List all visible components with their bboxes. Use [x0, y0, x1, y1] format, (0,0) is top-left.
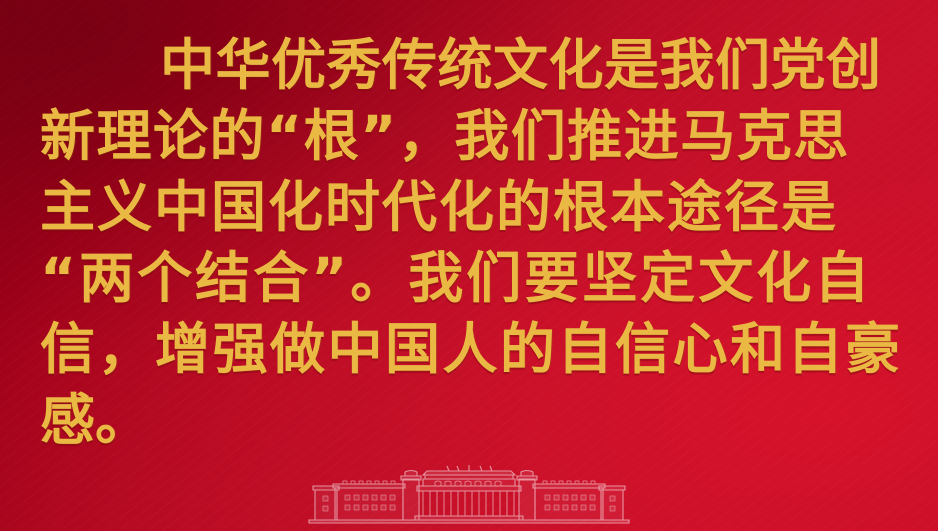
- quote-line-3: 主义中国化时代化的根本途径是: [40, 172, 906, 243]
- great-hall-of-the-people-icon: [299, 464, 639, 526]
- quote-text-block: 中华优秀传统文化是我们党创 新理论的“根”，我们推进马克思 主义中国化时代化的根…: [40, 30, 906, 456]
- quote-line-1: 中华优秀传统文化是我们党创: [40, 30, 906, 101]
- quote-poster: 中华优秀传统文化是我们党创 新理论的“根”，我们推进马克思 主义中国化时代化的根…: [0, 0, 938, 531]
- quote-line-2: 新理论的“根”，我们推进马克思: [40, 101, 906, 172]
- quote-line-5: 信，增强做中国人的自信心和自豪: [40, 314, 906, 385]
- quote-line-4: “两个结合”。我们要坚定文化自: [40, 243, 906, 314]
- quote-line-6: 感。: [40, 385, 906, 456]
